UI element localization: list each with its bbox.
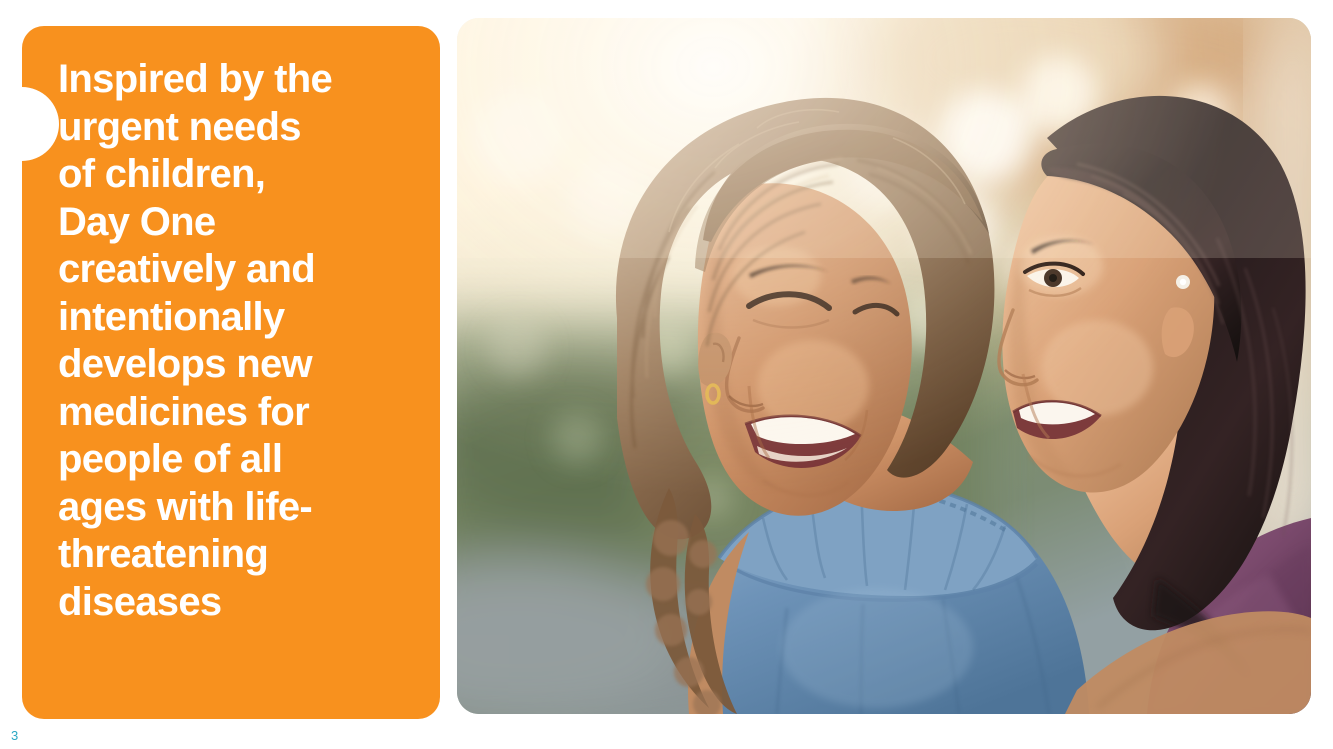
slide: Inspired by the urgent needs of children… bbox=[0, 0, 1333, 749]
photo-illustration bbox=[457, 18, 1311, 714]
page-number: 3 bbox=[11, 729, 18, 742]
photo-woman-and-girl bbox=[457, 18, 1311, 714]
callout-headline: Inspired by the urgent needs of children… bbox=[58, 56, 408, 626]
orange-callout-box: Inspired by the urgent needs of children… bbox=[22, 26, 440, 719]
